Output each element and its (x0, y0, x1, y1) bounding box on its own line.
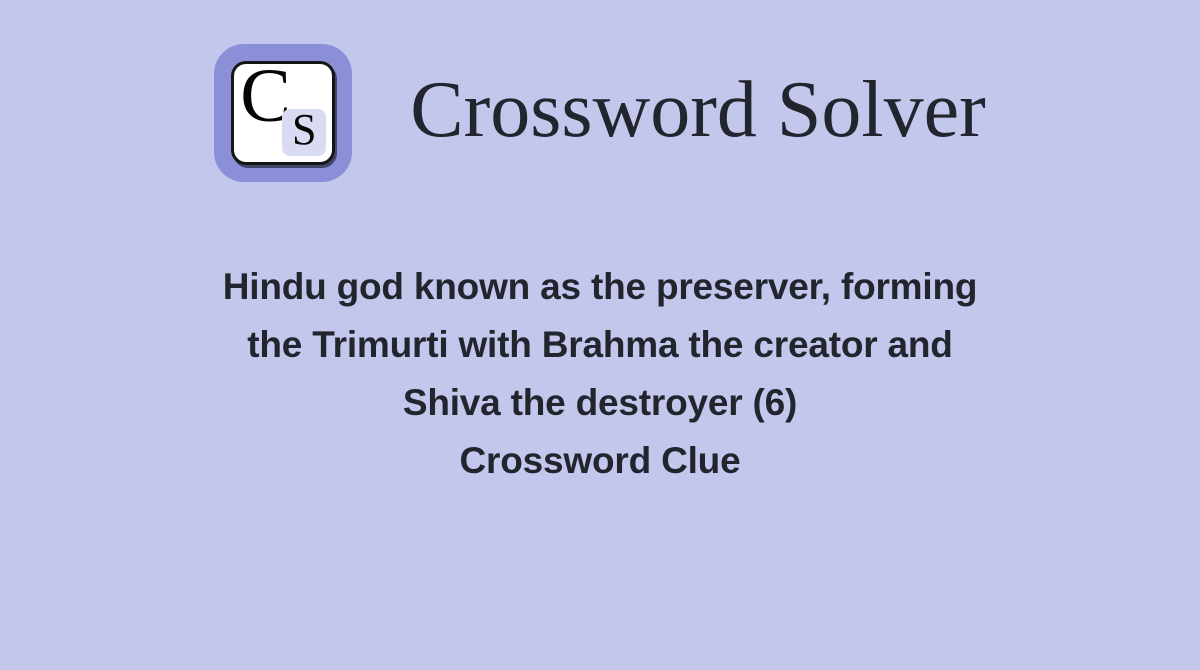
clue-line: Shiva the destroyer (6) (95, 374, 1105, 432)
logo-letter-s: S (282, 106, 326, 154)
page-root: C S Crossword Solver Hindu god known as … (0, 0, 1200, 670)
clue-suffix-label: Crossword Clue (95, 432, 1105, 490)
logo-letter-s-tile: S (282, 109, 326, 156)
logo-letter-tile: C S (231, 61, 335, 165)
crossword-solver-logo-icon[interactable]: C S (214, 44, 352, 182)
site-title: Crossword Solver (410, 70, 986, 156)
clue-line: the Trimurti with Brahma the creator and (95, 316, 1105, 374)
brand[interactable]: C S Crossword Solver (214, 44, 986, 182)
clue-block: Hindu god known as the preserver, formin… (95, 258, 1105, 490)
site-header: C S Crossword Solver (0, 30, 1200, 195)
clue-line: Hindu god known as the preserver, formin… (95, 258, 1105, 316)
clue-text: Hindu god known as the preserver, formin… (95, 258, 1105, 432)
